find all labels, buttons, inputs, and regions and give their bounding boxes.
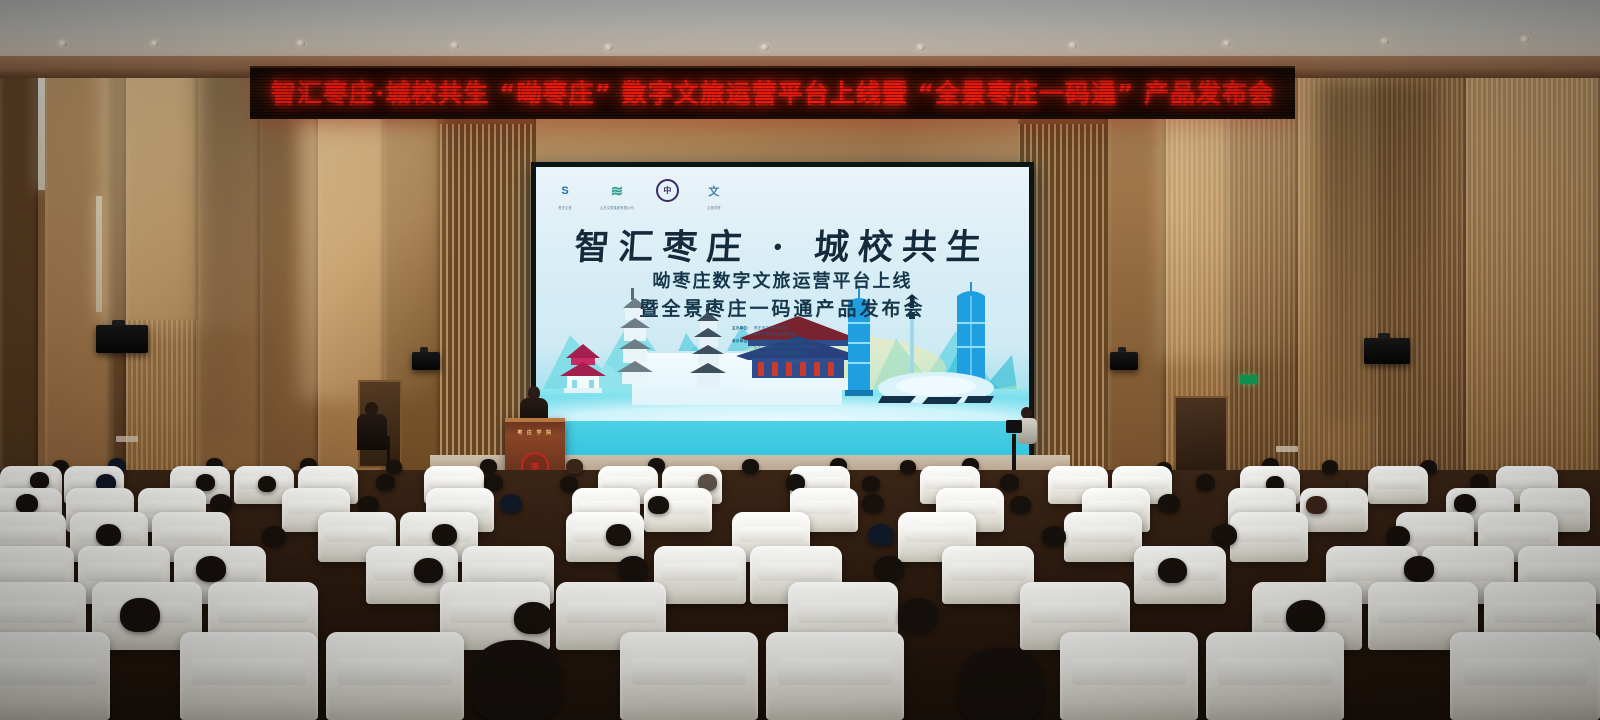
- audience-chair[interactable]: [1064, 512, 1142, 562]
- ceiling-downlight: [58, 40, 67, 47]
- audience-head: [16, 494, 38, 513]
- audience-chair[interactable]: [1060, 632, 1198, 720]
- stage-photographer: [357, 402, 391, 470]
- audience-head: [606, 524, 631, 546]
- screen-title: 智汇枣庄 · 城校共生: [536, 219, 1029, 270]
- screen-logo: 中: [656, 179, 679, 204]
- audience-chair[interactable]: [1368, 466, 1428, 504]
- ceiling-downlight: [916, 44, 925, 51]
- wall-outlet: [1276, 446, 1298, 452]
- credit-date: 2024年11月: [732, 360, 857, 366]
- audience-head: [1212, 524, 1237, 546]
- wall-speaker-icon: [1364, 338, 1410, 364]
- screen-logo: ≋ 山东文旅集团有限公司: [600, 179, 634, 210]
- audience-head: [618, 556, 648, 582]
- audience-head: [1158, 558, 1187, 583]
- audience-head: [1322, 460, 1338, 474]
- audience-chair[interactable]: [620, 632, 758, 720]
- audience-head-front: [470, 640, 562, 720]
- logo-mark-icon: ≋: [604, 179, 630, 203]
- credit-line: 枣庄全景文旅科技发展有限公司: [732, 350, 857, 356]
- audience-head: [862, 494, 884, 513]
- wall-outlet: [116, 436, 138, 442]
- audience-head: [1404, 556, 1434, 582]
- audience-chair[interactable]: [326, 632, 464, 720]
- audience-chair[interactable]: [654, 546, 746, 604]
- audience-head: [566, 459, 583, 474]
- led-banner: 智汇枣庄·城校共生 “呦枣庄” 数字文旅运营平台上线暨 “全景枣庄一码通” 产品…: [250, 66, 1295, 119]
- audience-head: [648, 496, 669, 514]
- audience-chair[interactable]: [1450, 632, 1600, 720]
- wall-speaker-icon: [96, 325, 148, 353]
- audience-head: [262, 526, 286, 547]
- wall-speaker-icon: [1110, 352, 1138, 370]
- auditorium-scene: 智汇枣庄·城校共生 “呦枣庄” 数字文旅运营平台上线暨 “全景枣庄一码通” 产品…: [0, 0, 1600, 720]
- audience-head: [868, 524, 894, 546]
- audience-chair[interactable]: [566, 512, 644, 562]
- audience-head: [414, 558, 443, 583]
- pagoda-red: [554, 342, 612, 405]
- audience-head: [376, 474, 395, 491]
- audience-head: [120, 598, 160, 632]
- screen-logo: S 枣庄文旅: [552, 179, 578, 210]
- audience-head: [900, 460, 916, 474]
- audience-head: [258, 476, 276, 492]
- projection-screen: S 枣庄文旅 ≋ 山东文旅集团有限公司 中 文 文旅学院 智汇枣庄 · 城校共生: [536, 167, 1029, 467]
- credit-label: 主办单位：: [732, 325, 751, 331]
- ceiling-downlight: [1520, 36, 1529, 43]
- logo-mark-icon: 文: [701, 179, 727, 203]
- credit-value: 枣庄全景文旅科技发展有限公司: [754, 350, 807, 356]
- audience-head: [210, 494, 232, 513]
- audience-head: [196, 556, 226, 582]
- ceiling-downlight: [296, 40, 305, 47]
- ceiling-downlight: [604, 44, 613, 51]
- logo-caption: 枣庄文旅: [558, 205, 572, 210]
- projection-screen-frame: S 枣庄文旅 ≋ 山东文旅集团有限公司 中 文 文旅学院 智汇枣庄 · 城校共生: [531, 162, 1034, 472]
- audience-chair[interactable]: [1230, 512, 1308, 562]
- audience-head: [1042, 526, 1066, 547]
- screen-logo: 文 文旅学院: [701, 179, 727, 210]
- audience-head: [386, 460, 402, 474]
- audience-head: [1306, 496, 1327, 514]
- stadium-building: [876, 370, 996, 413]
- audience-head: [742, 459, 759, 474]
- audience-head: [874, 556, 904, 582]
- wall-speaker-icon: [412, 352, 440, 370]
- ceiling-downlight: [1068, 42, 1077, 49]
- audience-head: [1386, 526, 1410, 547]
- podium-label: 枣 庄 学 院: [505, 429, 565, 436]
- logo-caption: 山东文旅集团有限公司: [600, 205, 634, 210]
- logo-mark-icon: 中: [656, 179, 679, 202]
- audience-head: [898, 598, 938, 632]
- audience-chair[interactable]: [0, 632, 110, 720]
- audience-head: [514, 602, 552, 634]
- led-scanline-overlay: [250, 68, 1295, 116]
- videographer: [1006, 404, 1046, 476]
- screen-subtitle-1: 呦枣庄数字文旅运营平台上线: [536, 267, 1029, 293]
- side-door[interactable]: [1174, 396, 1228, 472]
- audience-head: [500, 494, 522, 513]
- wall-light-strip: [38, 60, 45, 190]
- audience-head: [30, 472, 49, 489]
- audience-head: [1010, 496, 1031, 514]
- ceiling-downlight: [150, 40, 159, 47]
- logo-mark-icon: S: [552, 179, 578, 203]
- audience-head: [1196, 474, 1215, 491]
- audience-head: [96, 524, 121, 546]
- wall-light-strip: [96, 196, 102, 312]
- logo-caption: 文旅学院: [707, 205, 721, 210]
- audience-head: [1158, 494, 1180, 513]
- credit-label: 承办单位：: [732, 338, 751, 344]
- photographer-body: [357, 414, 387, 450]
- audience-head-front: [958, 648, 1044, 720]
- audience-chair[interactable]: [1206, 632, 1344, 720]
- screen-logo-row: S 枣庄文旅 ≋ 山东文旅集团有限公司 中 文 文旅学院: [552, 179, 727, 210]
- ceiling-downlight: [450, 42, 459, 49]
- audience-head: [1454, 494, 1476, 513]
- audience-head: [1000, 474, 1019, 491]
- audience-head: [432, 524, 457, 546]
- audience-chair[interactable]: [766, 632, 904, 720]
- audience-head: [1286, 600, 1325, 633]
- audience-chair[interactable]: [180, 632, 318, 720]
- ceiling-downlight: [760, 44, 769, 51]
- screen-subtitle-2: 暨全景枣庄一码通产品发布会: [536, 294, 1029, 321]
- video-camera-icon: [1006, 420, 1022, 433]
- ceiling-downlight: [1380, 38, 1389, 45]
- exit-sign-icon: [1240, 375, 1257, 384]
- screen-credits: 主办单位：枣庄市文化和旅游局 枣庄学院文旅融合研究院 承办单位：枣庄市智慧文旅运…: [732, 325, 857, 366]
- ceiling-downlight: [1222, 40, 1231, 47]
- audience-head: [862, 476, 880, 492]
